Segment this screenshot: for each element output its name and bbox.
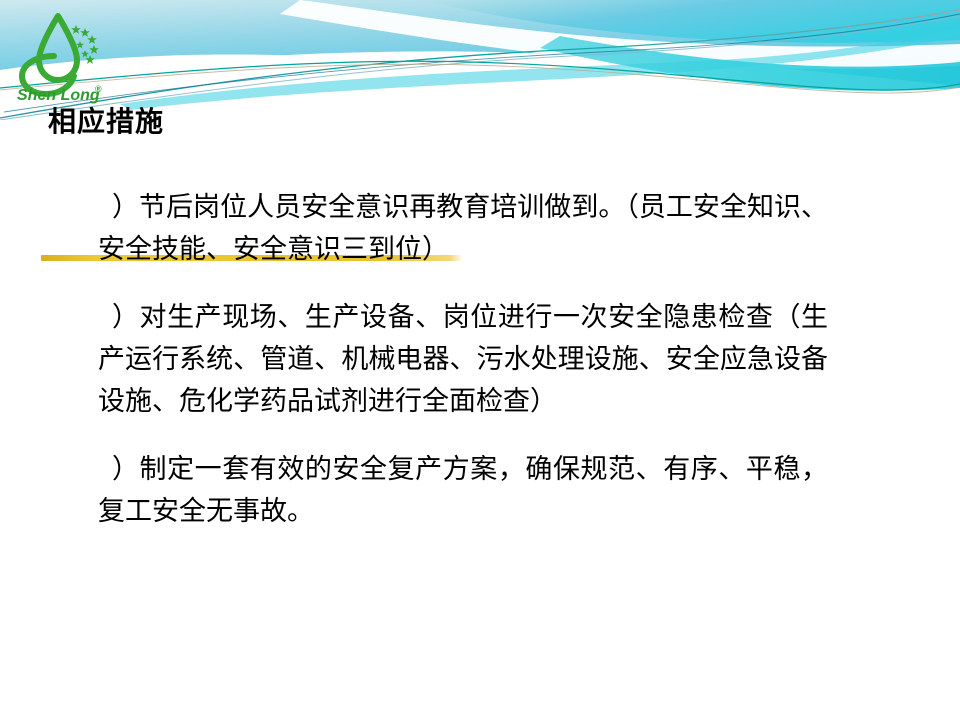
body-paragraph-2: ）对生产现场、生产设备、岗位进行一次安全隐患检查（生产运行系统、管道、机械电器、… [98, 296, 828, 422]
shen-long-logo: Shen Long ® [14, 8, 122, 108]
body-content: ）节后岗位人员安全意识再教育培训做到。（员工安全知识、安全技能、安全意识三到位）… [98, 186, 828, 532]
logo-wordmark: Shen Long [17, 87, 100, 104]
header-decoration-band [0, 0, 960, 120]
header-wave-graphic [0, 0, 960, 120]
slide-canvas: Shen Long ® 相应措施 ）节后岗位人员安全意识再教育培训做到。（员工安… [0, 0, 960, 720]
body-paragraph-1: ）节后岗位人员安全意识再教育培训做到。（员工安全知识、安全技能、安全意识三到位） [98, 186, 828, 270]
body-paragraph-3: ）制定一套有效的安全复产方案，确保规范、有序、平稳，复工安全无事故。 [98, 448, 828, 532]
logo-graphic: Shen Long ® [14, 8, 122, 108]
page-title: 相应措施 [48, 104, 164, 142]
water-drop-icon [39, 16, 77, 80]
logo-trademark-symbol: ® [95, 84, 102, 94]
